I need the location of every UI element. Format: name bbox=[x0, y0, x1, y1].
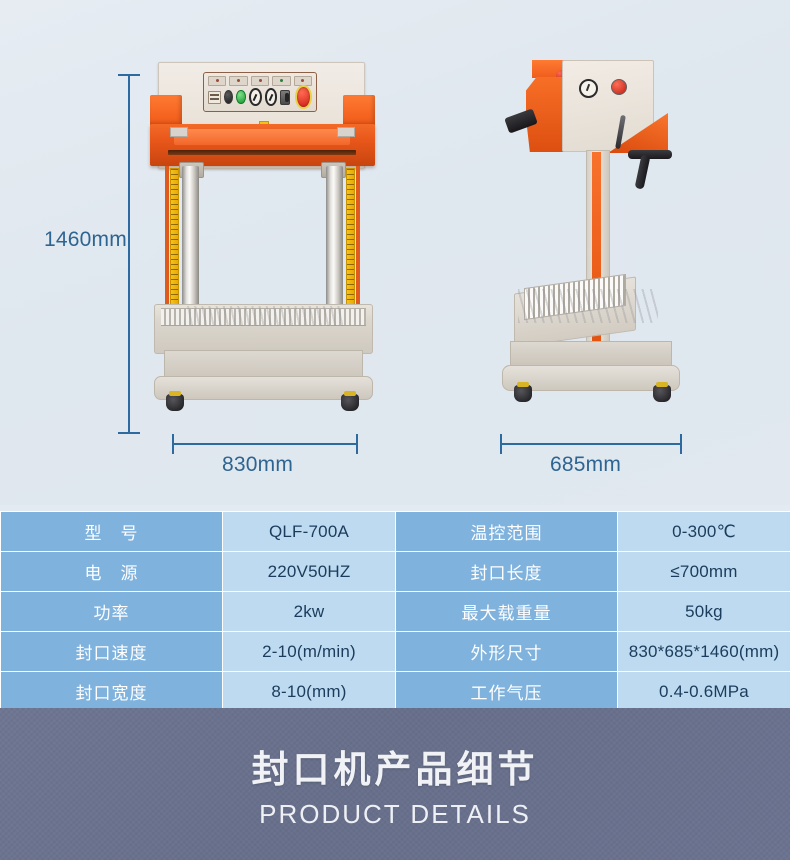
banner-title-cn: 封口机产品细节 bbox=[252, 739, 539, 793]
table-row: 封口宽度 8-10(mm) 工作气压 0.4-0.6MPa bbox=[1, 672, 790, 712]
caster-wheel-left bbox=[514, 385, 532, 402]
sealing-jaw-assembly bbox=[150, 124, 375, 166]
spec-key: 最大载重量 bbox=[396, 592, 618, 632]
control-panel bbox=[203, 72, 317, 112]
spec-value: 0-300℃ bbox=[618, 512, 790, 552]
table-row: 电 源 220V50HZ 封口长度 ≤700mm bbox=[1, 552, 790, 592]
front-width-tick-right bbox=[356, 434, 358, 454]
spec-key: 温控范围 bbox=[396, 512, 618, 552]
product-photo-area: 1460mm bbox=[0, 0, 790, 505]
jaw-clamp-left bbox=[170, 127, 188, 137]
spec-value: 220V50HZ bbox=[223, 552, 396, 592]
banner-title-en: PRODUCT DETAILS bbox=[259, 799, 531, 830]
table-row: 型 号 QLF-700A 温控范围 0-300℃ bbox=[1, 512, 790, 552]
image-watermark bbox=[518, 289, 658, 323]
jaw-clamp-right bbox=[337, 127, 355, 137]
front-width-dimension-line bbox=[172, 443, 358, 445]
indicator-lamp-icon bbox=[208, 76, 226, 86]
spec-value: 50kg bbox=[618, 592, 790, 632]
indicator-lamp-icon bbox=[294, 76, 312, 86]
table-row: 功率 2kw 最大载重量 50kg bbox=[1, 592, 790, 632]
head-side-cover-right bbox=[343, 95, 375, 125]
side-crank-handle[interactable] bbox=[628, 150, 672, 159]
sealing-bar bbox=[174, 129, 350, 145]
spec-key: 型 号 bbox=[1, 512, 223, 552]
caster-wheel-left bbox=[166, 394, 184, 411]
spec-value: 8-10(mm) bbox=[223, 672, 396, 712]
height-dimension-label: 1460mm bbox=[44, 228, 127, 252]
caster-wheel-right bbox=[653, 385, 671, 402]
spec-key: 封口速度 bbox=[1, 632, 223, 672]
guide-rail-left bbox=[165, 166, 169, 311]
rotary-knob-icon[interactable] bbox=[224, 90, 234, 104]
spec-key: 封口长度 bbox=[396, 552, 618, 592]
pressure-gauge-icon bbox=[579, 79, 598, 98]
spec-key: 功率 bbox=[1, 592, 223, 632]
sealing-machine-front-view bbox=[150, 62, 375, 447]
head-side-cover-left bbox=[150, 95, 182, 125]
spec-value: 0.4-0.6MPa bbox=[618, 672, 790, 712]
lift-column-left bbox=[182, 166, 199, 306]
spec-value: 2-10(m/min) bbox=[223, 632, 396, 672]
sealing-slot bbox=[168, 150, 356, 155]
spec-key: 外形尺寸 bbox=[396, 632, 618, 672]
side-width-tick-right bbox=[680, 434, 682, 454]
spec-value: 2kw bbox=[223, 592, 396, 632]
side-power-button-icon[interactable] bbox=[611, 79, 627, 95]
indicator-lamp-row bbox=[208, 76, 312, 84]
selector-switch-icon[interactable] bbox=[280, 90, 290, 105]
specification-table-body: 型 号 QLF-700A 温控范围 0-300℃ 电 源 220V50HZ 封口… bbox=[1, 512, 790, 712]
indicator-lamp-icon bbox=[251, 76, 269, 86]
table-row: 封口速度 2-10(m/min) 外形尺寸 830*685*1460(mm) bbox=[1, 632, 790, 672]
indicator-lamp-icon bbox=[272, 76, 290, 86]
emergency-stop-button-icon[interactable] bbox=[295, 85, 312, 109]
side-crank-grip[interactable] bbox=[635, 154, 651, 189]
image-watermark bbox=[184, 306, 344, 326]
lift-column-right bbox=[326, 166, 343, 306]
control-row bbox=[208, 86, 312, 108]
product-spec-page: 1460mm bbox=[0, 0, 790, 860]
height-scale-ruler-left bbox=[170, 168, 179, 310]
height-dimension-tick-bottom bbox=[118, 432, 140, 434]
guide-rail-right bbox=[356, 166, 360, 311]
specification-table-section: 型 号 QLF-700A 温控范围 0-300℃ 电 源 220V50HZ 封口… bbox=[0, 505, 790, 700]
caster-wheel-right bbox=[341, 394, 359, 411]
spec-value: QLF-700A bbox=[223, 512, 396, 552]
spec-value: 830*685*1460(mm) bbox=[618, 632, 790, 672]
sealing-machine-side-view bbox=[500, 55, 685, 445]
side-width-dimension-label: 685mm bbox=[550, 453, 621, 477]
spec-key: 工作气压 bbox=[396, 672, 618, 712]
height-scale-ruler-right bbox=[346, 168, 355, 310]
start-button-icon[interactable] bbox=[236, 90, 246, 104]
spec-value: ≤700mm bbox=[618, 552, 790, 592]
product-details-banner: 封口机产品细节 PRODUCT DETAILS bbox=[0, 708, 790, 860]
indicator-lamp-icon bbox=[229, 76, 247, 86]
specification-table: 型 号 QLF-700A 温控范围 0-300℃ 电 源 220V50HZ 封口… bbox=[0, 511, 790, 712]
front-width-dimension-label: 830mm bbox=[222, 453, 293, 477]
speed-dial-icon bbox=[265, 88, 278, 106]
height-dimension-line bbox=[128, 75, 130, 433]
side-width-dimension-line bbox=[500, 443, 682, 445]
spec-key: 封口宽度 bbox=[1, 672, 223, 712]
digital-display-icon bbox=[208, 91, 221, 104]
spec-key: 电 源 bbox=[1, 552, 223, 592]
temperature-dial-icon bbox=[249, 88, 262, 106]
